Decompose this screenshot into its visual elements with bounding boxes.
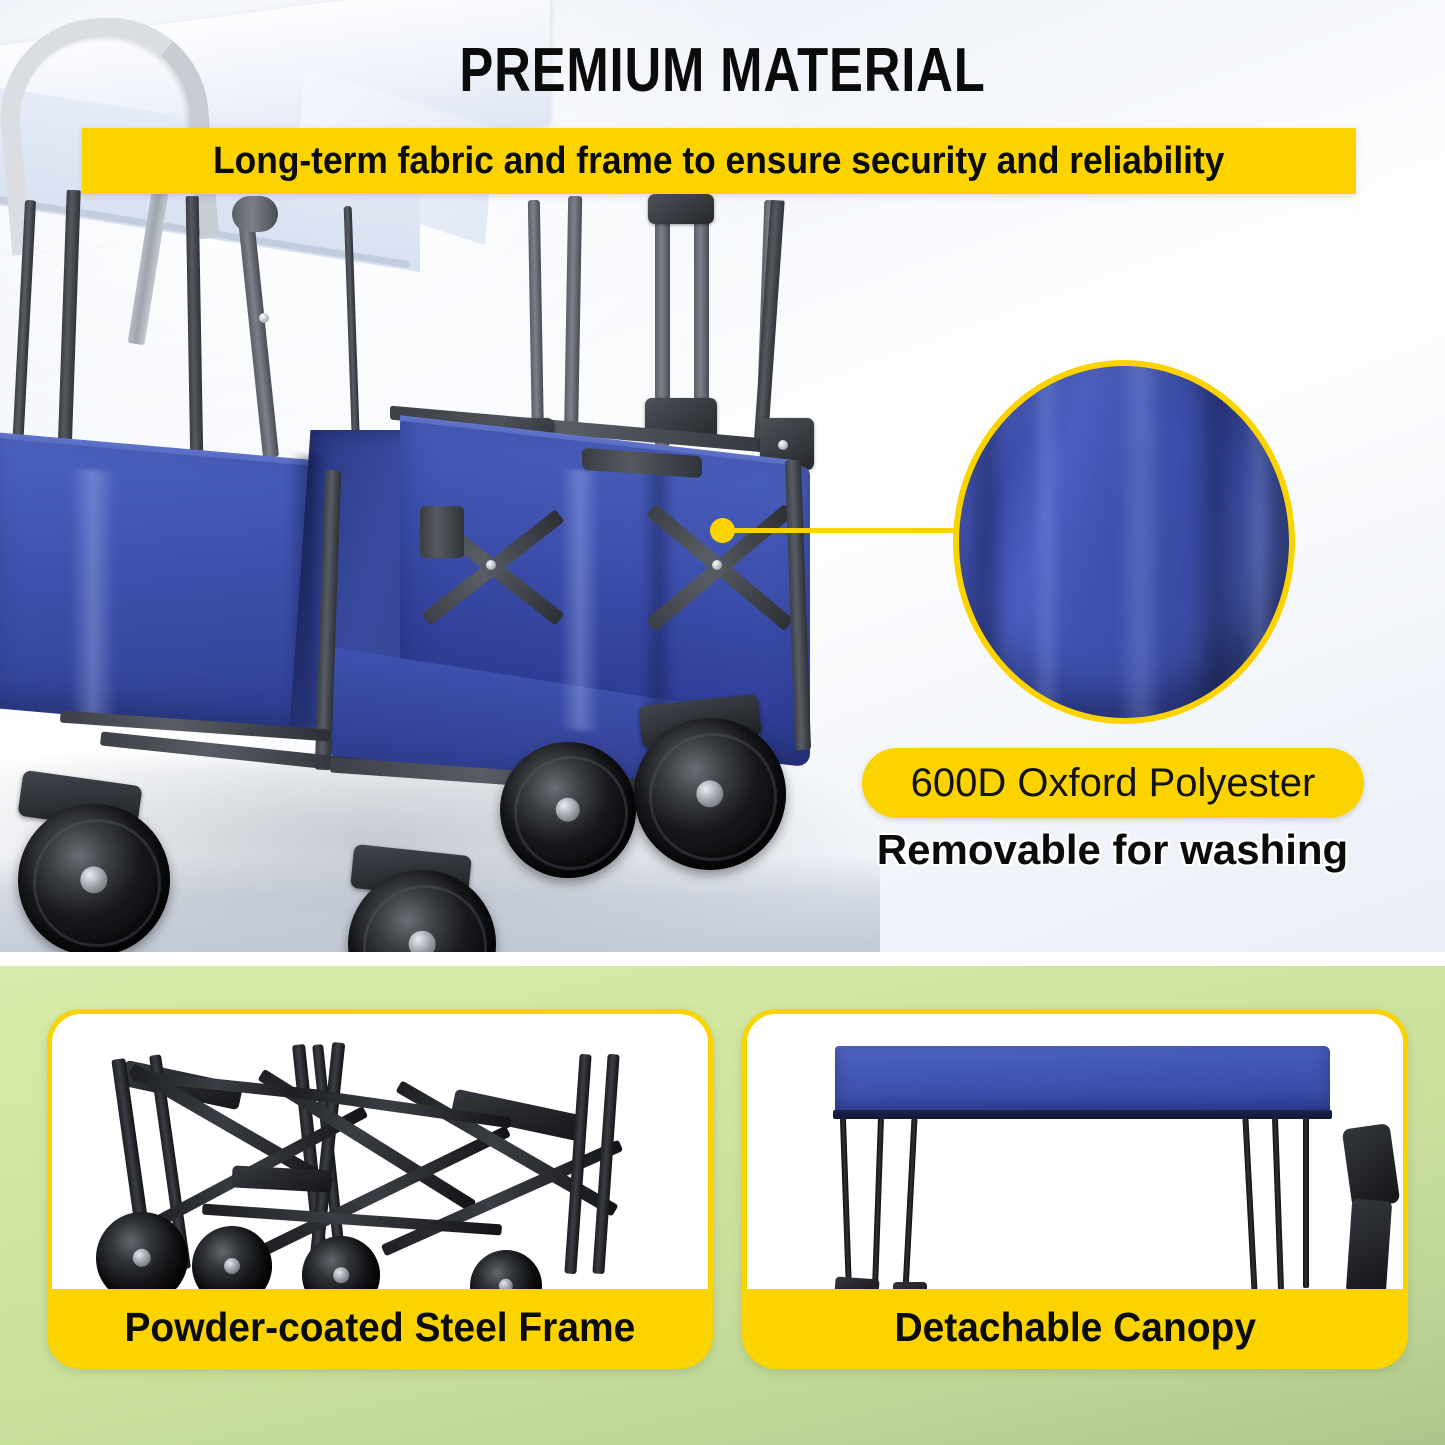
- pole-rivet: [259, 313, 269, 323]
- tub-handle-strap: [420, 506, 464, 558]
- brace-rivet: [712, 560, 722, 570]
- wheel-tread: [514, 756, 628, 870]
- canopy-fabric: [835, 1046, 1330, 1112]
- steel-frame-photo: [52, 1014, 708, 1291]
- callout-anchor-dot: [710, 518, 735, 543]
- material-pill: 600D Oxford Polyester: [862, 748, 1364, 818]
- page-title: PREMIUM MATERIAL: [130, 38, 1315, 104]
- canopy-pole: [1242, 1118, 1257, 1291]
- canopy-label: Detachable Canopy: [746, 1289, 1404, 1365]
- material-pill-label: 600D Oxford Polyester: [911, 761, 1316, 806]
- canopy-pole: [232, 196, 278, 232]
- canopy-label-text: Detachable Canopy: [894, 1304, 1255, 1351]
- frame-upright: [528, 200, 544, 450]
- canopy-trim: [833, 1110, 1332, 1119]
- feature-panel-steel-frame[interactable]: Powder-coated Steel Frame: [47, 1009, 713, 1369]
- section-divider: [0, 952, 1445, 966]
- steel-frame-label: Powder-coated Steel Frame: [51, 1289, 709, 1365]
- feature-panel-canopy[interactable]: Detachable Canopy: [742, 1009, 1408, 1369]
- brace-rivet: [486, 560, 496, 570]
- wheel-tread: [649, 733, 777, 861]
- frame-bar: [592, 1054, 619, 1274]
- hero-section: PREMIUM MATERIAL Long-term fabric and fr…: [0, 0, 1445, 960]
- headline-banner: Long-term fabric and frame to ensure sec…: [82, 128, 1356, 194]
- steel-frame-label-text: Powder-coated Steel Frame: [125, 1304, 636, 1351]
- bracket-rivet: [778, 440, 788, 450]
- callout-leader-line: [722, 528, 972, 533]
- tub-left-wall: [0, 438, 318, 737]
- wheel-tread: [33, 819, 161, 947]
- canopy-foot: [1346, 1199, 1392, 1291]
- canopy-pole: [903, 1118, 918, 1290]
- features-section: Powder-coated Steel Frame Detachable Can: [0, 966, 1445, 1445]
- headline-text: Long-term fabric and frame to ensure sec…: [213, 140, 1224, 183]
- frame-plate: [231, 1165, 332, 1192]
- canopy-foot: [1342, 1123, 1401, 1209]
- wheel: [470, 1250, 542, 1291]
- washing-caption: Removable for washing: [840, 826, 1385, 874]
- canopy-pole: [1272, 1118, 1284, 1290]
- canopy-pole: [1303, 1118, 1309, 1288]
- frame-upright: [564, 196, 582, 448]
- canopy-pole: [840, 1118, 852, 1291]
- canopy-photo: [747, 1014, 1403, 1291]
- fabric-closeup-circle: [953, 360, 1295, 724]
- wheel: [192, 1226, 272, 1291]
- frame-joint: [648, 194, 714, 224]
- frame-strap: [753, 200, 784, 450]
- fabric-crease: [560, 468, 600, 732]
- product-infographic: PREMIUM MATERIAL Long-term fabric and fr…: [0, 0, 1445, 1445]
- canopy-pole: [872, 1118, 884, 1288]
- fabric-crease: [70, 468, 116, 722]
